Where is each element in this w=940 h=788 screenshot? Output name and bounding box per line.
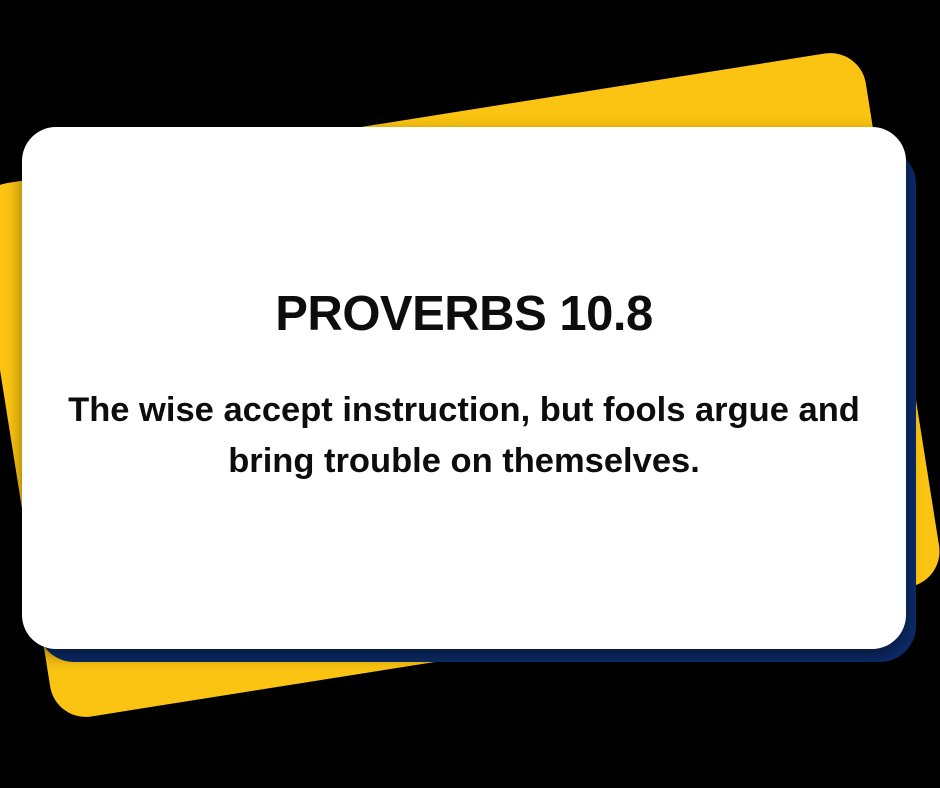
verse-reference-title: PROVERBS 10.8 [50,289,878,340]
quote-card-content: PROVERBS 10.8 The wise accept instructio… [50,289,878,487]
quote-card-canvas: PROVERBS 10.8 The wise accept instructio… [0,0,940,788]
quote-card: PROVERBS 10.8 The wise accept instructio… [22,127,906,649]
verse-body-text: The wise accept instruction, but fools a… [64,385,864,487]
